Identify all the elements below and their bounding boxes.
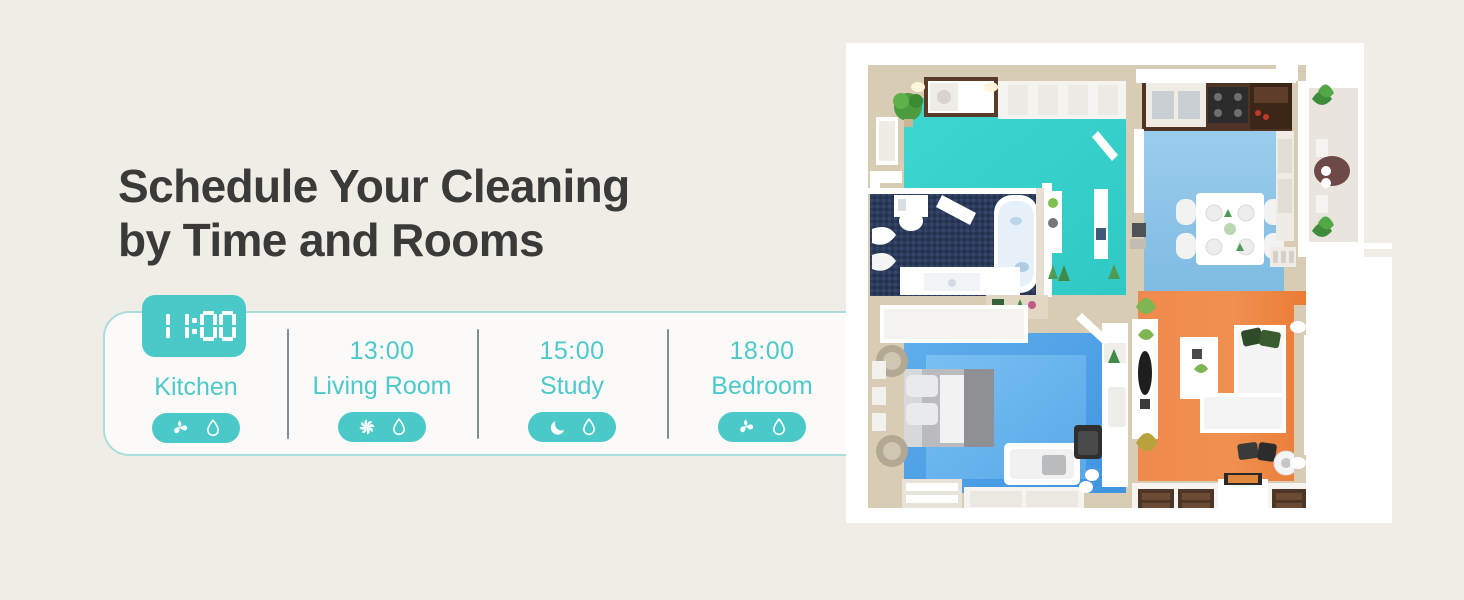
moon-icon [548,418,567,437]
digit-zero [200,311,217,341]
schedule-item-time-label: 15:00 [539,339,604,364]
schedule-item-living-room[interactable]: 13:00 Living Room [287,313,477,454]
schedule-item-bedroom[interactable]: 18:00 Bedroom [667,313,857,454]
left-content-panel: Schedule Your Cleaning by Time and Rooms… [0,0,860,600]
schedule-item-study[interactable]: 15:00 Study [477,313,667,454]
active-time-badge[interactable]: 11:00 [142,295,246,357]
schedule-item-room-label: Living Room [313,374,452,399]
digit-zero [219,311,236,341]
schedule-item-room-label: Bedroom [711,374,812,399]
water-drop-icon [205,418,221,438]
schedule-item-modes-living-room[interactable] [338,412,426,442]
water-drop-icon [771,417,787,437]
digit-one [172,311,189,341]
digital-clock-display [153,311,236,341]
digit-one [153,311,170,341]
water-drop-icon [391,417,407,437]
fan-2-blade-icon [171,418,191,438]
schedule-item-modes-kitchen[interactable] [152,413,240,443]
digit-colon [191,311,198,341]
schedule-item-time-label: 13:00 [349,339,414,364]
schedule-item-modes-study[interactable] [528,412,616,442]
schedule-item-time-label: 18:00 [729,339,794,364]
schedule-item-room-label: Study [540,374,604,399]
page-title: Schedule Your Cleaning by Time and Rooms [118,159,798,268]
water-drop-icon [581,417,597,437]
floorplan-image [846,43,1392,530]
fan-turbo-icon [357,417,377,437]
fan-2-blade-icon [737,417,757,437]
schedule-item-modes-bedroom[interactable] [718,412,806,442]
schedule-item-room-label: Kitchen [154,375,237,400]
